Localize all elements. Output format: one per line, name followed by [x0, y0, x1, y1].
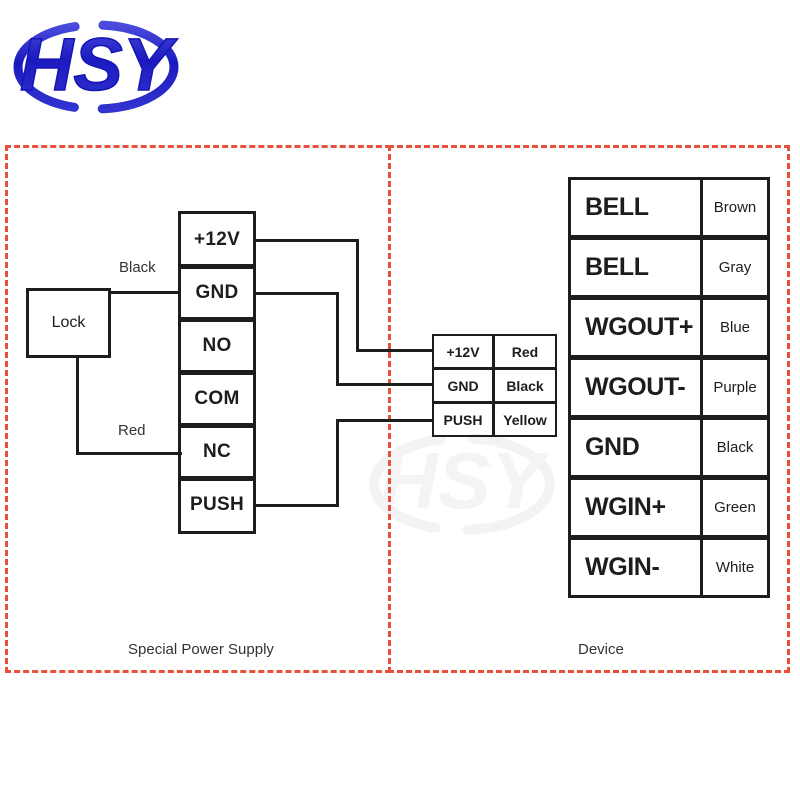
device-color-brown: Brown: [714, 199, 757, 216]
connector-cell-signal-12v: +12V: [432, 334, 494, 369]
wire-label-black: Black: [119, 259, 156, 276]
wire-label-red: Red: [118, 422, 146, 439]
device-color-green: Green: [714, 499, 756, 516]
device-signal-bell-1: BELL: [585, 193, 649, 222]
device-cell-signal-wgout-minus: WGOUT-: [568, 357, 703, 418]
terminal-cell-push: PUSH: [178, 476, 256, 534]
wire-12v-v: [356, 239, 359, 352]
device-signal-wgin-minus: WGIN-: [585, 553, 659, 582]
terminal-label-gnd: GND: [195, 282, 238, 304]
wire-push-h1: [256, 504, 339, 507]
connector-signal-push: PUSH: [444, 412, 483, 428]
device-cell-signal-wgin-plus: WGIN+: [568, 477, 703, 538]
device-cell-signal-gnd: GND: [568, 417, 703, 478]
region-label-power-supply: Special Power Supply: [128, 641, 274, 658]
terminal-cell-nc: NC: [178, 423, 256, 481]
region-label-device: Device: [578, 641, 624, 658]
wire-gnd-h1: [256, 292, 339, 295]
device-cell-signal-bell-2: BELL: [568, 237, 703, 298]
lock-box: Lock: [26, 288, 111, 358]
terminal-cell-12v: +12V: [178, 211, 256, 269]
connector-signal-12v: +12V: [446, 344, 479, 360]
device-cell-color-green: Green: [700, 477, 770, 538]
wiring-diagram-page: HSY HSY Special Power Supply Device Lock…: [0, 0, 800, 800]
wire-lock-red-v: [76, 357, 79, 455]
wire-lock-black-h: [110, 291, 180, 294]
lock-label: Lock: [52, 314, 86, 332]
connector-cell-signal-gnd: GND: [432, 368, 494, 403]
device-cell-color-black: Black: [700, 417, 770, 478]
device-signal-wgout-minus: WGOUT-: [585, 373, 685, 402]
wire-gnd-h2: [336, 383, 434, 386]
wire-12v-h1: [256, 239, 359, 242]
device-color-white: White: [716, 559, 754, 576]
connector-cell-color-black: Black: [493, 368, 557, 403]
device-cell-signal-bell-1: BELL: [568, 177, 703, 238]
device-cell-color-blue: Blue: [700, 297, 770, 358]
terminal-label-no: NO: [202, 335, 231, 357]
device-signal-gnd: GND: [585, 433, 639, 462]
connector-color-yellow: Yellow: [503, 412, 547, 428]
connector-signal-gnd: GND: [447, 378, 478, 394]
device-color-gray: Gray: [719, 259, 752, 276]
device-cell-signal-wgout-plus: WGOUT+: [568, 297, 703, 358]
device-color-black: Black: [717, 439, 754, 456]
wire-push-h2: [336, 419, 434, 422]
connector-color-red: Red: [512, 344, 538, 360]
connector-cell-color-yellow: Yellow: [493, 402, 557, 437]
device-cell-color-gray: Gray: [700, 237, 770, 298]
hsy-logo: HSY: [8, 14, 188, 120]
terminal-cell-gnd: GND: [178, 264, 256, 322]
terminal-cell-no: NO: [178, 317, 256, 375]
device-cell-color-purple: Purple: [700, 357, 770, 418]
wire-push-v: [336, 419, 339, 507]
terminal-label-12v: +12V: [194, 229, 240, 251]
svg-text:HSY: HSY: [20, 23, 178, 106]
device-color-purple: Purple: [713, 379, 756, 396]
device-cell-color-white: White: [700, 537, 770, 598]
terminal-label-nc: NC: [203, 441, 231, 463]
device-signal-wgout-plus: WGOUT+: [585, 313, 693, 342]
device-cell-signal-wgin-minus: WGIN-: [568, 537, 703, 598]
connector-cell-color-red: Red: [493, 334, 557, 369]
terminal-label-com: COM: [194, 388, 239, 410]
device-color-blue: Blue: [720, 319, 750, 336]
wire-12v-h2: [356, 349, 434, 352]
connector-cell-signal-push: PUSH: [432, 402, 494, 437]
terminal-label-push: PUSH: [190, 494, 244, 516]
wire-lock-red-h: [76, 452, 182, 455]
terminal-cell-com: COM: [178, 370, 256, 428]
device-signal-wgin-plus: WGIN+: [585, 493, 666, 522]
device-signal-bell-2: BELL: [585, 253, 649, 282]
device-cell-color-brown: Brown: [700, 177, 770, 238]
wire-gnd-v: [336, 292, 339, 386]
connector-color-black: Black: [506, 378, 543, 394]
